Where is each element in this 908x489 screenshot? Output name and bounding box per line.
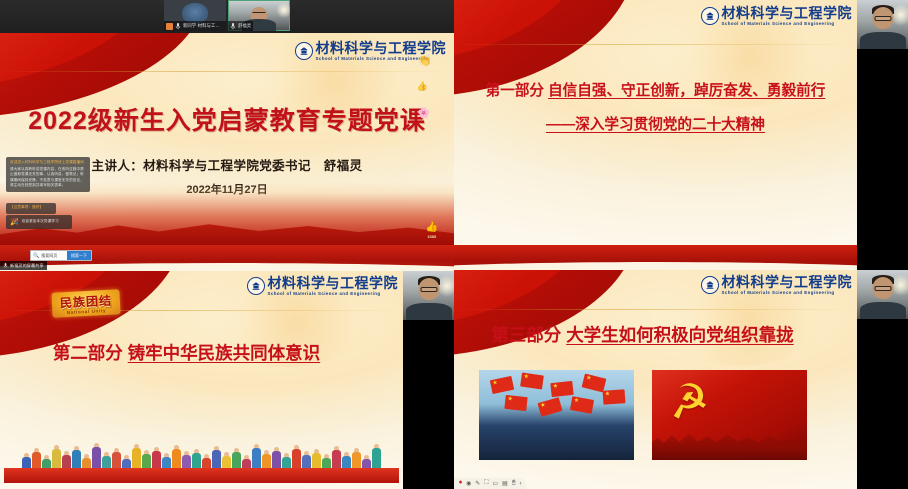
glasses-icon — [874, 286, 891, 291]
presentation-toolbar[interactable]: ⏺ ◉ ✎ ⛶ ▭ ▤ 🖱 ‹ — [454, 478, 526, 489]
video-participant-strip: 新同学·材料与工程学院... 舒福灵 — [0, 0, 454, 33]
glasses-icon — [874, 16, 891, 21]
chat-message-second-text: 【注意事项：做好】 — [10, 205, 52, 210]
college-emblem-icon — [295, 42, 313, 60]
slide-part-one: 材料科学与工程学院 School of Materials Science an… — [454, 0, 857, 245]
previous-slide-button[interactable]: ‹ — [519, 481, 521, 487]
thumbs-up-reaction-icon: 👍 — [417, 81, 428, 92]
presenter-body — [406, 303, 452, 320]
share-name-label: 新福灵的屏幕共享 — [0, 261, 47, 270]
pen-button[interactable]: ✎ — [475, 480, 480, 487]
chat-message-second: 【注意事项：做好】 — [6, 203, 56, 214]
college-name-cn: 材料科学与工程学院 — [316, 41, 447, 55]
college-name-cn: 材料科学与工程学院 — [268, 276, 399, 290]
part-label: 第二部分 — [53, 343, 123, 363]
slide-part-three: 材料科学与工程学院 School of Materials Science an… — [454, 270, 857, 489]
part-one-title: 自信自强、守正创新，踔厉奋发、勇毅前行 — [548, 83, 825, 99]
college-name-cn: 材料科学与工程学院 — [722, 275, 853, 289]
college-name-en: School of Materials Science and Engineer… — [722, 22, 853, 26]
flower-reaction-icon: 🌸 — [418, 108, 430, 119]
panel-top-left: 新同学·材料与工程学院... 舒福灵 — [0, 0, 454, 245]
slide-heading-line-1: 第一部分 自信自强、守正创新，踔厉奋发、勇毅前行 — [454, 79, 857, 100]
part-two-title: 铸牢中华民族共同体意识 — [128, 343, 321, 363]
participant-name: 舒福灵 — [238, 23, 251, 29]
slide-view-button[interactable]: ▭ — [493, 480, 499, 487]
background-window — [276, 2, 290, 18]
chat-notice-overlay: 欢迎进入材料科学与工程学院线上党课直播间 请大家认真聆听讲党课内容，在收听过程中… — [6, 157, 90, 192]
ethnic-groups-illustration — [4, 421, 399, 483]
search-button[interactable]: 搜索一下 — [67, 251, 91, 260]
video-tile-label: 新同学·材料与工程学院... — [164, 21, 226, 31]
presenter-body — [860, 302, 906, 319]
national-unity-badge: 民族团结 National Unity — [51, 289, 120, 318]
presenter-pip-video[interactable] — [857, 270, 908, 319]
search-input[interactable]: 搜索网页 — [41, 253, 57, 259]
thumbs-up-icon: 👍 — [426, 222, 438, 233]
muted-icon — [166, 23, 173, 30]
chat-notice-title: 欢迎进入材料科学与工程学院线上党课直播间 — [10, 160, 86, 165]
chat-message-third-text: 欢迎参加本次党课学习 — [22, 219, 59, 225]
search-icon: 🔍 — [33, 253, 39, 259]
slide-title: 2022级新生入党启蒙教育专题党课 — [0, 101, 454, 137]
party-popper-icon: 🎉 — [10, 218, 19, 226]
panel-top-right: 材料科学与工程学院 School of Materials Science an… — [454, 0, 908, 245]
record-button[interactable]: ⏺ — [459, 480, 462, 487]
video-tile-label: 舒福灵 — [228, 21, 253, 31]
glasses-icon — [420, 287, 437, 292]
college-emblem-icon — [701, 7, 719, 25]
college-name-cn: 材料科学与工程学院 — [722, 6, 853, 20]
decorative-gold-line — [454, 309, 857, 310]
college-logo: 材料科学与工程学院 School of Materials Science an… — [701, 275, 853, 295]
college-logo: 材料科学与工程学院 School of Materials Science an… — [701, 6, 853, 26]
slide-heading-line-2: ——深入学习贯彻党的二十大精神 — [454, 113, 857, 134]
video-tile-participant-1[interactable]: 新同学·材料与工程学院... — [164, 0, 226, 31]
microphone-icon — [175, 22, 181, 30]
screenshot-collage: 新同学·材料与工程学院... 舒福灵 — [0, 0, 908, 489]
hammer-and-sickle-icon: ☭ — [664, 375, 711, 426]
pip-background-fill — [857, 49, 908, 245]
college-emblem-icon — [247, 277, 265, 295]
search-box[interactable]: 🔍 搜索网页 搜索一下 — [30, 250, 92, 261]
like-button[interactable]: 👍 1585 — [426, 222, 438, 239]
slide-photo-row: ☭ — [454, 370, 831, 460]
chat-message-third: 🎉 欢迎参加本次党课学习 — [6, 215, 72, 229]
part-label: 第一部分 — [486, 83, 544, 99]
panel-bottom-left: 🔍 搜索网页 搜索一下 新福灵的屏幕共享 — [0, 245, 454, 489]
applause-reaction-icon: 👏 — [418, 54, 432, 67]
pip-background-fill — [403, 320, 454, 489]
slide-heading: 第二部分 铸牢中华民族共同体意识 — [0, 340, 373, 365]
presenter-pip-video[interactable] — [403, 271, 454, 320]
presenter-body — [860, 32, 906, 49]
more-options-button[interactable]: 🖱 — [512, 480, 516, 487]
red-floor-band — [4, 468, 399, 483]
part-one-subtitle: ——深入学习贯彻党的二十大精神 — [546, 117, 765, 133]
part-label: 第三部分 — [491, 325, 561, 345]
college-name-en: School of Materials Science and Engineer… — [722, 291, 853, 295]
participant-name: 新同学·材料与工程学院... — [183, 23, 224, 29]
video-tile-participant-2[interactable]: 舒福灵 — [228, 0, 290, 31]
microphone-icon — [230, 22, 236, 30]
college-name-en: School of Materials Science and Engineer… — [268, 292, 399, 296]
zoom-button[interactable]: ⛶ — [484, 480, 488, 487]
chat-notice-body: 请大家认真聆听讲党课内容，在收听过程中禁止做和党课无关的事，认真听讲，做笔记；听… — [10, 167, 86, 189]
panel-bottom-right: 材料科学与工程学院 School of Materials Science an… — [454, 245, 908, 489]
photo-students-with-flags — [479, 370, 634, 460]
decorative-gold-line — [454, 44, 857, 45]
slide-cover: 材料科学与工程学院 School of Materials Science an… — [0, 33, 454, 245]
college-emblem-icon — [701, 276, 719, 294]
like-count: 1585 — [427, 234, 436, 239]
pointer-button[interactable]: ◉ — [466, 480, 471, 487]
previous-slide-remnant — [454, 245, 857, 270]
college-logo: 材料科学与工程学院 School of Materials Science an… — [247, 276, 399, 296]
part-three-title: 大学生如何积极向党组织靠拢 — [566, 325, 794, 345]
slide-part-two: 材料科学与工程学院 School of Materials Science an… — [0, 271, 403, 489]
share-owner-name: 新福灵的屏幕共享 — [10, 263, 44, 269]
all-slides-button[interactable]: ▤ — [502, 480, 508, 487]
decorative-gold-line — [0, 71, 454, 72]
pip-background-fill — [857, 319, 908, 489]
glasses-icon — [253, 12, 266, 15]
presenter-pip-video[interactable] — [857, 0, 908, 49]
slide-heading: 第三部分 大学生如何积极向党组织靠拢 — [454, 322, 831, 347]
photo-party-flag: ☭ — [652, 370, 807, 460]
crowd-silhouette — [652, 428, 807, 460]
microphone-icon — [3, 262, 8, 269]
